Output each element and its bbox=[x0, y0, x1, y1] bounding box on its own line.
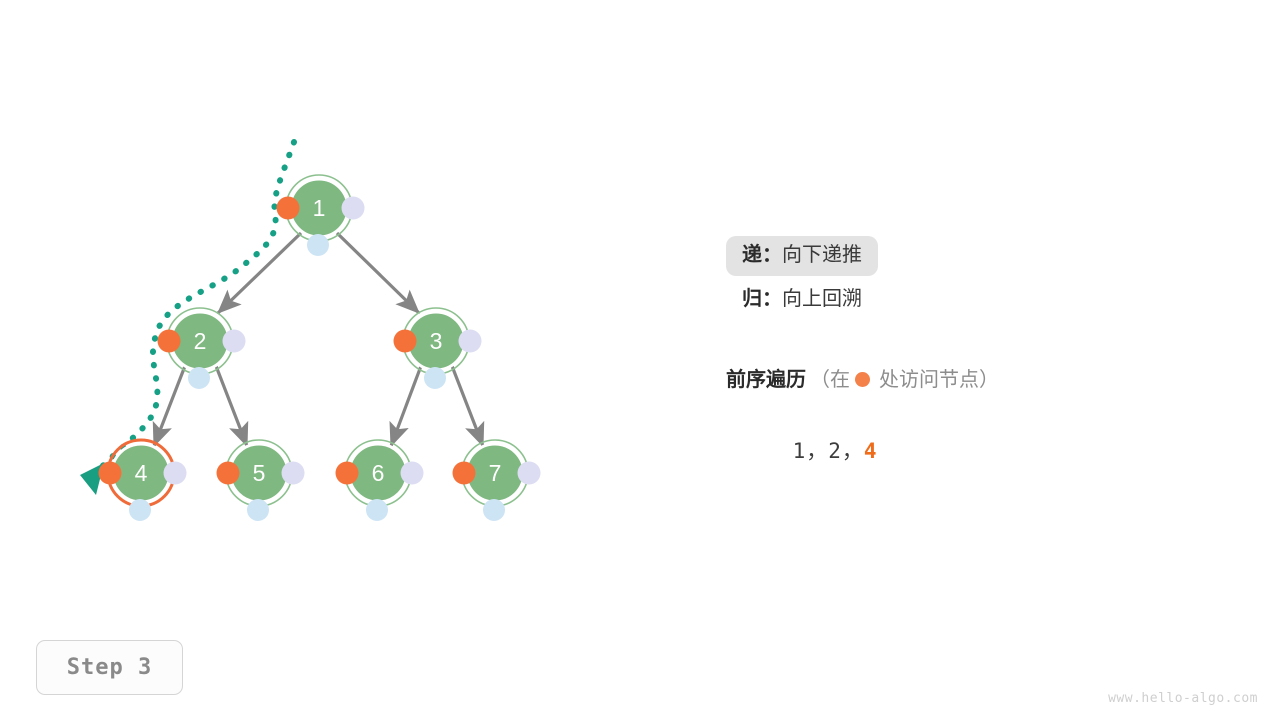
legend-value-gui: 向上回溯 bbox=[782, 288, 862, 310]
traversal-sequence: 1，2，4 bbox=[738, 411, 878, 489]
node-label: 1 bbox=[313, 195, 326, 221]
node-bottom-dot-icon bbox=[366, 499, 388, 521]
node-bottom-dot-icon bbox=[129, 499, 151, 521]
node-bottom-dot-icon bbox=[424, 367, 446, 389]
traversal-note-after: 处访问节点） bbox=[879, 369, 999, 391]
node-right-dot-icon bbox=[459, 330, 482, 353]
tree-node-7[interactable]: 7 bbox=[453, 440, 541, 521]
node-label: 4 bbox=[135, 460, 148, 486]
edge-1-3 bbox=[337, 233, 419, 313]
edge-3-6 bbox=[391, 366, 421, 446]
node-label: 5 bbox=[253, 460, 266, 486]
node-label: 6 bbox=[372, 460, 385, 486]
step-badge: Step 3 bbox=[36, 640, 183, 695]
legend-key-gui: 归： bbox=[742, 288, 782, 310]
legend-row-backtrack-up: 归：向上回溯 bbox=[742, 289, 862, 309]
node-label: 3 bbox=[430, 328, 443, 354]
traversal-sequence-visited: 1，2， bbox=[793, 439, 864, 463]
edge-1-2 bbox=[218, 233, 301, 313]
node-bottom-dot-icon bbox=[188, 367, 210, 389]
node-bottom-dot-icon bbox=[483, 499, 505, 521]
binary-tree-diagram: 1234567 bbox=[0, 0, 1280, 720]
traversal-heading: 前序遍历（在处访问节点） bbox=[726, 363, 999, 392]
tree-node-5[interactable]: 5 bbox=[217, 440, 305, 521]
step-badge-label: Step 3 bbox=[67, 655, 152, 680]
node-bottom-dot-icon bbox=[307, 234, 329, 256]
recursion-path-line bbox=[99, 142, 294, 470]
watermark: www.hello-algo.com bbox=[1108, 691, 1258, 706]
node-visit-dot-icon bbox=[277, 197, 300, 220]
node-right-dot-icon bbox=[223, 330, 246, 353]
node-right-dot-icon bbox=[164, 462, 187, 485]
node-visit-dot-icon bbox=[158, 330, 181, 353]
tree-nodes: 1234567 bbox=[99, 175, 541, 521]
traversal-note-before: （在 bbox=[810, 369, 850, 391]
node-visit-dot-icon bbox=[453, 462, 476, 485]
tree-node-2[interactable]: 2 bbox=[158, 308, 246, 389]
node-right-dot-icon bbox=[342, 197, 365, 220]
tree-node-4[interactable]: 4 bbox=[99, 440, 187, 521]
node-right-dot-icon bbox=[518, 462, 541, 485]
tree-node-3[interactable]: 3 bbox=[394, 308, 482, 389]
node-visit-dot-icon bbox=[99, 462, 122, 485]
traversal-title: 前序遍历 bbox=[726, 369, 806, 391]
edge-2-5 bbox=[216, 366, 247, 446]
visit-dot-icon bbox=[855, 372, 870, 387]
traversal-sequence-current: 4 bbox=[864, 439, 878, 463]
edge-3-7 bbox=[452, 366, 483, 446]
node-right-dot-icon bbox=[282, 462, 305, 485]
node-label: 2 bbox=[194, 328, 207, 354]
node-visit-dot-icon bbox=[217, 462, 240, 485]
legend-value-di: 向下递推 bbox=[782, 244, 862, 266]
legend-row-recursion-down: 递：向下递推 bbox=[726, 236, 878, 276]
node-bottom-dot-icon bbox=[247, 499, 269, 521]
tree-node-6[interactable]: 6 bbox=[336, 440, 424, 521]
node-label: 7 bbox=[489, 460, 502, 486]
node-right-dot-icon bbox=[401, 462, 424, 485]
node-visit-dot-icon bbox=[336, 462, 359, 485]
watermark-text: www.hello-algo.com bbox=[1108, 691, 1258, 706]
legend-key-di: 递： bbox=[742, 244, 782, 266]
node-visit-dot-icon bbox=[394, 330, 417, 353]
